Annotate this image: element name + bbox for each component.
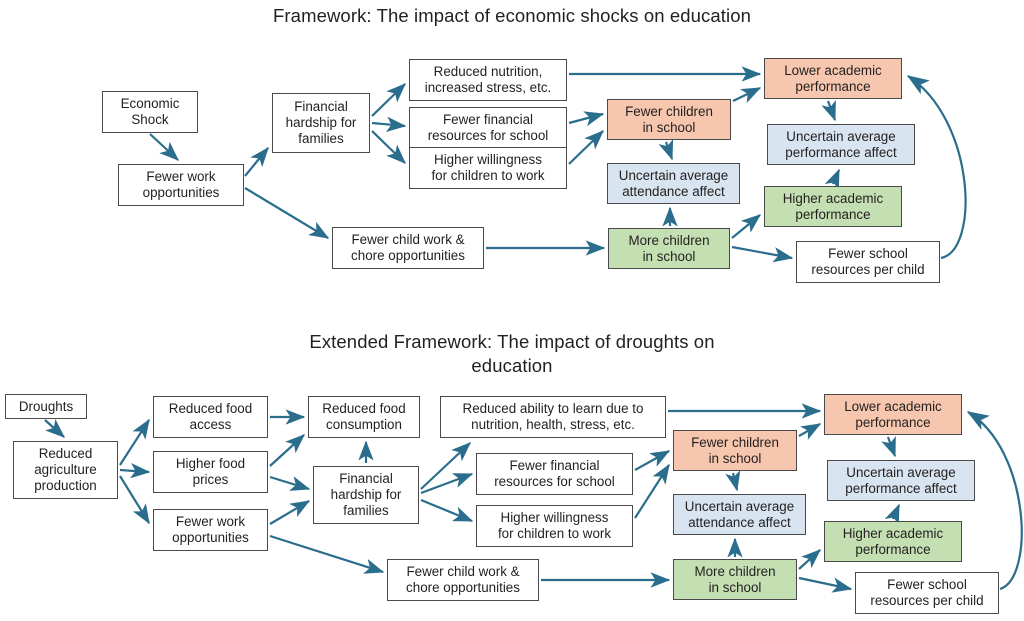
d2-lower-academic-performance-label: Lower academic performance — [844, 399, 942, 431]
d2-lower-academic-performance[interactable]: Lower academic performance — [824, 394, 962, 435]
d1-fewer-children-in-school[interactable]: Fewer children in school — [607, 99, 731, 140]
d1-higher-willingness-label: Higher willingness for children to work — [431, 152, 544, 184]
d2-higher-willingness[interactable]: Higher willingness for children to work — [476, 505, 633, 547]
d2-feedback-edge — [968, 412, 1022, 589]
d1-economic-shock[interactable]: Economic Shock — [102, 91, 198, 133]
d1-more-children-in-school-label: More children in school — [628, 233, 709, 265]
d1-feedback-edge — [908, 76, 966, 258]
d2-reduced-food-access-label: Reduced food access — [169, 401, 252, 433]
d1-financial-hardship[interactable]: Financial hardship for families — [272, 93, 370, 153]
d2-fewer-child-work-label: Fewer child work & chore opportunities — [406, 564, 520, 596]
d2-fewer-school-resources[interactable]: Fewer school resources per child — [855, 572, 999, 614]
d2-more-children-in-school-label: More children in school — [694, 564, 775, 596]
d2-uncertain-performance-label: Uncertain average performance affect — [845, 465, 956, 497]
d2-fewer-work-label: Fewer work opportunities — [172, 514, 249, 546]
d1-higher-academic-performance[interactable]: Higher academic performance — [764, 186, 902, 227]
d1-uncertain-attendance-label: Uncertain average attendance affect — [619, 168, 728, 200]
d2-fewer-child-work[interactable]: Fewer child work & chore opportunities — [387, 559, 539, 601]
d2-reduced-food-consumption-label: Reduced food consumption — [322, 401, 405, 433]
d2-fewer-school-resources-label: Fewer school resources per child — [870, 577, 983, 609]
d1-fewer-child-work-label: Fewer child work & chore opportunities — [351, 232, 465, 264]
d1-lower-academic-performance-label: Lower academic performance — [784, 63, 882, 95]
d1-financial-hardship-label: Financial hardship for families — [286, 99, 357, 147]
d1-reduced-nutrition[interactable]: Reduced nutrition, increased stress, etc… — [409, 59, 567, 101]
d2-reduced-food-consumption[interactable]: Reduced food consumption — [308, 396, 420, 438]
d2-fewer-work[interactable]: Fewer work opportunities — [153, 509, 268, 551]
d2-uncertain-performance[interactable]: Uncertain average performance affect — [827, 460, 975, 501]
d2-reduced-ability-to-learn[interactable]: Reduced ability to learn due to nutritio… — [440, 396, 666, 438]
d1-fewer-children-in-school-label: Fewer children in school — [625, 104, 713, 136]
d2-fewer-financial-resources-label: Fewer financial resources for school — [494, 458, 615, 490]
d2-fewer-financial-resources[interactable]: Fewer financial resources for school — [476, 453, 633, 495]
d1-higher-willingness[interactable]: Higher willingness for children to work — [409, 147, 567, 189]
d2-financial-hardship[interactable]: Financial hardship for families — [313, 466, 419, 524]
diagram-canvas: Framework: The impact of economic shocks… — [0, 0, 1024, 621]
d2-higher-academic-performance-label: Higher academic performance — [843, 526, 943, 558]
d1-fewer-work-label: Fewer work opportunities — [143, 169, 220, 201]
d2-fewer-children-in-school-label: Fewer children in school — [691, 435, 779, 467]
d1-fewer-child-work[interactable]: Fewer child work & chore opportunities — [332, 227, 484, 269]
d2-higher-food-prices-label: Higher food prices — [176, 456, 245, 488]
d2-financial-hardship-label: Financial hardship for families — [331, 471, 402, 519]
d1-uncertain-attendance[interactable]: Uncertain average attendance affect — [607, 163, 740, 204]
d2-droughts[interactable]: Droughts — [5, 394, 87, 419]
d1-reduced-nutrition-label: Reduced nutrition, increased stress, etc… — [425, 64, 552, 96]
d1-uncertain-performance-label: Uncertain average performance affect — [785, 129, 896, 161]
d2-more-children-in-school[interactable]: More children in school — [673, 559, 797, 600]
d1-lower-academic-performance[interactable]: Lower academic performance — [764, 58, 902, 99]
d2-uncertain-attendance[interactable]: Uncertain average attendance affect — [673, 494, 806, 535]
d2-higher-willingness-label: Higher willingness for children to work — [498, 510, 611, 542]
d1-fewer-work[interactable]: Fewer work opportunities — [118, 164, 244, 206]
d2-fewer-children-in-school[interactable]: Fewer children in school — [673, 430, 797, 471]
d1-fewer-financial-resources[interactable]: Fewer financial resources for school — [409, 107, 567, 149]
d1-fewer-school-resources-label: Fewer school resources per child — [811, 246, 924, 278]
d1-more-children-in-school[interactable]: More children in school — [608, 228, 730, 269]
d2-reduced-food-access[interactable]: Reduced food access — [153, 396, 268, 438]
d1-fewer-school-resources[interactable]: Fewer school resources per child — [796, 241, 940, 283]
d2-reduced-ability-to-learn-label: Reduced ability to learn due to nutritio… — [463, 401, 644, 433]
d1-higher-academic-performance-label: Higher academic performance — [783, 191, 883, 223]
d2-reduced-agriculture-production[interactable]: Reduced agriculture production — [13, 441, 118, 499]
d2-higher-food-prices[interactable]: Higher food prices — [153, 451, 268, 493]
d1-uncertain-performance[interactable]: Uncertain average performance affect — [767, 124, 915, 165]
d1-economic-shock-label: Economic Shock — [121, 96, 180, 128]
d2-higher-academic-performance[interactable]: Higher academic performance — [824, 521, 962, 562]
d2-droughts-label: Droughts — [19, 399, 73, 415]
d2-reduced-agriculture-production-label: Reduced agriculture production — [34, 446, 97, 494]
d2-uncertain-attendance-label: Uncertain average attendance affect — [685, 499, 794, 531]
d1-fewer-financial-resources-label: Fewer financial resources for school — [428, 112, 549, 144]
